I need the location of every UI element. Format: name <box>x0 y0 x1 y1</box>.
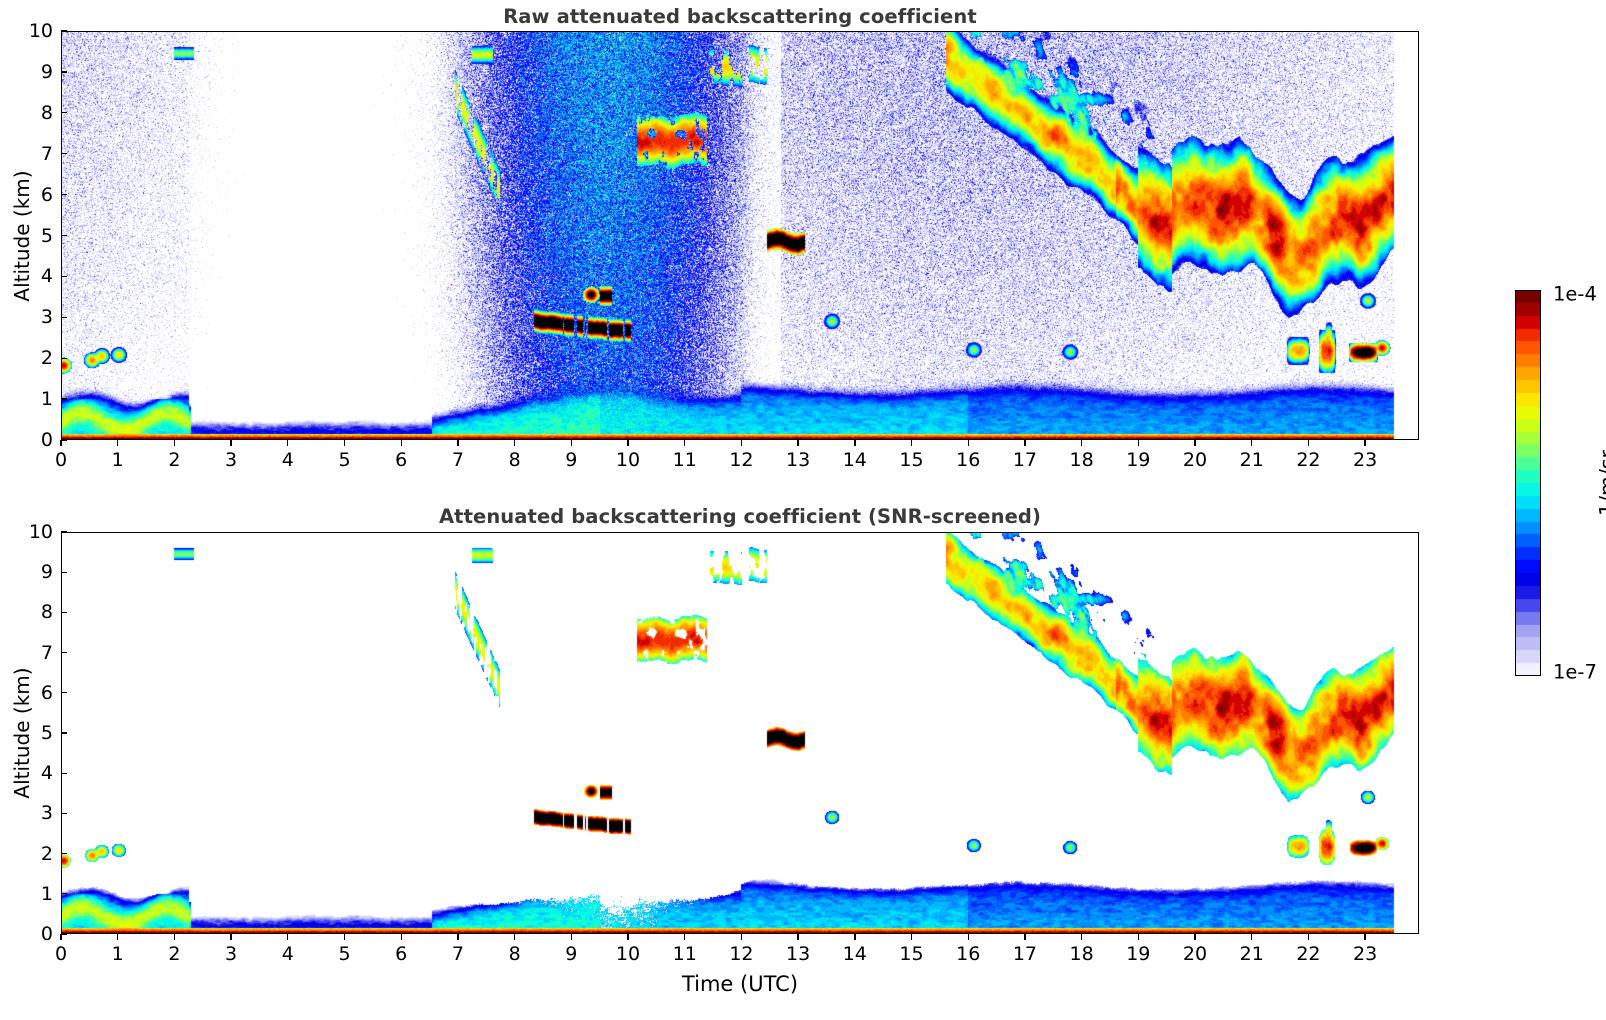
x-tick-label: 13 <box>786 449 810 471</box>
x-tick-label: 12 <box>729 943 753 965</box>
x-tick-label: 4 <box>282 943 294 965</box>
y-tick-label: 2 <box>15 843 53 865</box>
x-tick-label: 15 <box>899 449 923 471</box>
x-tick <box>344 440 345 446</box>
x-tick <box>1024 934 1025 940</box>
x-tick <box>1081 440 1082 446</box>
y-tick-label: 1 <box>15 883 53 905</box>
x-tick-label: 1 <box>112 943 124 965</box>
x-tick <box>514 440 515 446</box>
x-tick-label: 7 <box>452 943 464 965</box>
x-tick-label: 2 <box>168 449 180 471</box>
y-tick-label: 1 <box>15 388 53 410</box>
x-tick <box>1024 440 1025 446</box>
x-tick-label: 0 <box>55 449 67 471</box>
x-tick <box>1194 440 1195 446</box>
heatmap-panel-raw <box>61 31 1419 440</box>
x-tick <box>911 440 912 446</box>
x-tick <box>60 934 61 940</box>
x-tick <box>457 440 458 446</box>
y-tick <box>61 398 67 399</box>
x-tick <box>571 440 572 446</box>
y-tick-label: 0 <box>15 429 53 451</box>
x-tick-label: 5 <box>338 943 350 965</box>
x-tick <box>1364 934 1365 940</box>
x-tick <box>117 440 118 446</box>
x-tick <box>1138 440 1139 446</box>
x-tick-label: 10 <box>616 449 640 471</box>
x-tick-label: 16 <box>956 449 980 471</box>
y-tick <box>61 112 67 113</box>
x-tick <box>797 440 798 446</box>
y-tick <box>61 30 67 31</box>
heatmap-panel-screened <box>61 532 1419 934</box>
x-tick <box>457 934 458 940</box>
x-tick-label: 22 <box>1296 449 1320 471</box>
x-tick <box>684 440 685 446</box>
x-tick <box>627 934 628 940</box>
x-tick-label: 17 <box>1013 449 1037 471</box>
x-tick-label: 12 <box>729 449 753 471</box>
y-tick <box>61 276 67 277</box>
x-tick <box>174 934 175 940</box>
lidar-quicklook-figure: Raw attenuated backscattering coefficien… <box>0 0 1606 1020</box>
x-tick-label: 7 <box>452 449 464 471</box>
x-tick-label: 19 <box>1126 943 1150 965</box>
x-tick <box>401 440 402 446</box>
x-tick <box>741 934 742 940</box>
x-tick <box>854 934 855 940</box>
x-tick <box>287 440 288 446</box>
y-tick <box>61 439 67 440</box>
x-tick <box>797 934 798 940</box>
x-tick <box>60 440 61 446</box>
y-axis-label-raw: Altitude (km) <box>10 170 34 301</box>
x-tick-label: 3 <box>225 449 237 471</box>
y-tick <box>61 317 67 318</box>
y-tick <box>61 358 67 359</box>
x-tick-label: 9 <box>565 449 577 471</box>
x-axis-label: Time (UTC) <box>682 972 798 996</box>
x-tick-label: 11 <box>673 449 697 471</box>
x-tick-label: 6 <box>395 943 407 965</box>
x-tick <box>174 440 175 446</box>
x-tick-label: 20 <box>1183 449 1207 471</box>
y-tick <box>61 893 67 894</box>
x-tick <box>968 934 969 940</box>
y-tick-label: 10 <box>15 20 53 42</box>
x-tick <box>230 934 231 940</box>
x-tick-label: 21 <box>1240 449 1264 471</box>
panel-title-raw: Raw attenuated backscattering coefficien… <box>61 5 1419 28</box>
x-tick <box>571 934 572 940</box>
x-tick-label: 17 <box>1013 943 1037 965</box>
colorbar-min-label: 1e-7 <box>1553 661 1597 684</box>
x-tick-label: 20 <box>1183 943 1207 965</box>
colorbar-unit-label: 1/m/sr <box>1595 450 1606 516</box>
x-tick-label: 1 <box>112 449 124 471</box>
x-tick <box>230 440 231 446</box>
y-tick <box>61 71 67 72</box>
x-tick-label: 10 <box>616 943 640 965</box>
x-tick-label: 6 <box>395 449 407 471</box>
y-tick-label: 7 <box>15 143 53 165</box>
x-tick-label: 13 <box>786 943 810 965</box>
x-tick <box>514 934 515 940</box>
y-tick <box>61 612 67 613</box>
x-tick-label: 18 <box>1070 943 1094 965</box>
x-tick <box>1308 440 1309 446</box>
x-tick-label: 11 <box>673 943 697 965</box>
x-tick-label: 4 <box>282 449 294 471</box>
y-tick <box>61 531 67 532</box>
x-tick-label: 2 <box>168 943 180 965</box>
x-tick <box>1081 934 1082 940</box>
y-tick-label: 8 <box>15 102 53 124</box>
x-tick <box>1251 440 1252 446</box>
y-tick <box>61 153 67 154</box>
x-tick <box>287 934 288 940</box>
y-tick-label: 9 <box>15 61 53 83</box>
y-tick-label: 3 <box>15 802 53 824</box>
x-tick-label: 16 <box>956 943 980 965</box>
y-tick <box>61 652 67 653</box>
x-tick-label: 21 <box>1240 943 1264 965</box>
heatmap-canvas-screened <box>61 532 1419 934</box>
x-tick <box>968 440 969 446</box>
y-tick-label: 0 <box>15 923 53 945</box>
y-tick <box>61 572 67 573</box>
x-tick-label: 19 <box>1126 449 1150 471</box>
x-tick-label: 22 <box>1296 943 1320 965</box>
y-tick <box>61 732 67 733</box>
panel-title-screened: Attenuated backscattering coefficient (S… <box>61 505 1419 528</box>
colorbar <box>1515 290 1541 676</box>
x-tick-label: 14 <box>843 943 867 965</box>
x-tick <box>627 440 628 446</box>
y-tick-label: 2 <box>15 347 53 369</box>
x-tick <box>854 440 855 446</box>
x-tick-label: 8 <box>509 449 521 471</box>
x-tick <box>684 934 685 940</box>
y-tick-label: 10 <box>15 521 53 543</box>
x-tick <box>1194 934 1195 940</box>
y-tick <box>61 933 67 934</box>
heatmap-canvas-raw <box>61 31 1419 440</box>
y-tick <box>61 235 67 236</box>
y-tick-label: 7 <box>15 642 53 664</box>
y-tick <box>61 813 67 814</box>
x-tick-label: 15 <box>899 943 923 965</box>
y-axis-label-screened: Altitude (km) <box>10 667 34 798</box>
x-tick <box>1251 934 1252 940</box>
x-tick-label: 8 <box>509 943 521 965</box>
x-tick <box>1138 934 1139 940</box>
y-tick <box>61 853 67 854</box>
x-tick <box>401 934 402 940</box>
x-tick-label: 23 <box>1353 943 1377 965</box>
x-tick <box>741 440 742 446</box>
colorbar-max-label: 1e-4 <box>1553 283 1597 306</box>
x-tick-label: 18 <box>1070 449 1094 471</box>
x-tick-label: 14 <box>843 449 867 471</box>
x-tick <box>344 934 345 940</box>
y-tick <box>61 194 67 195</box>
y-tick-label: 8 <box>15 601 53 623</box>
x-tick <box>1364 440 1365 446</box>
x-tick-label: 23 <box>1353 449 1377 471</box>
y-tick <box>61 773 67 774</box>
x-tick <box>1308 934 1309 940</box>
x-tick-label: 3 <box>225 943 237 965</box>
colorbar-canvas <box>1515 290 1541 676</box>
x-tick-label: 5 <box>338 449 350 471</box>
x-tick-label: 0 <box>55 943 67 965</box>
y-tick-label: 9 <box>15 561 53 583</box>
y-tick <box>61 692 67 693</box>
x-tick-label: 9 <box>565 943 577 965</box>
x-tick <box>911 934 912 940</box>
y-tick-label: 3 <box>15 306 53 328</box>
x-tick <box>117 934 118 940</box>
